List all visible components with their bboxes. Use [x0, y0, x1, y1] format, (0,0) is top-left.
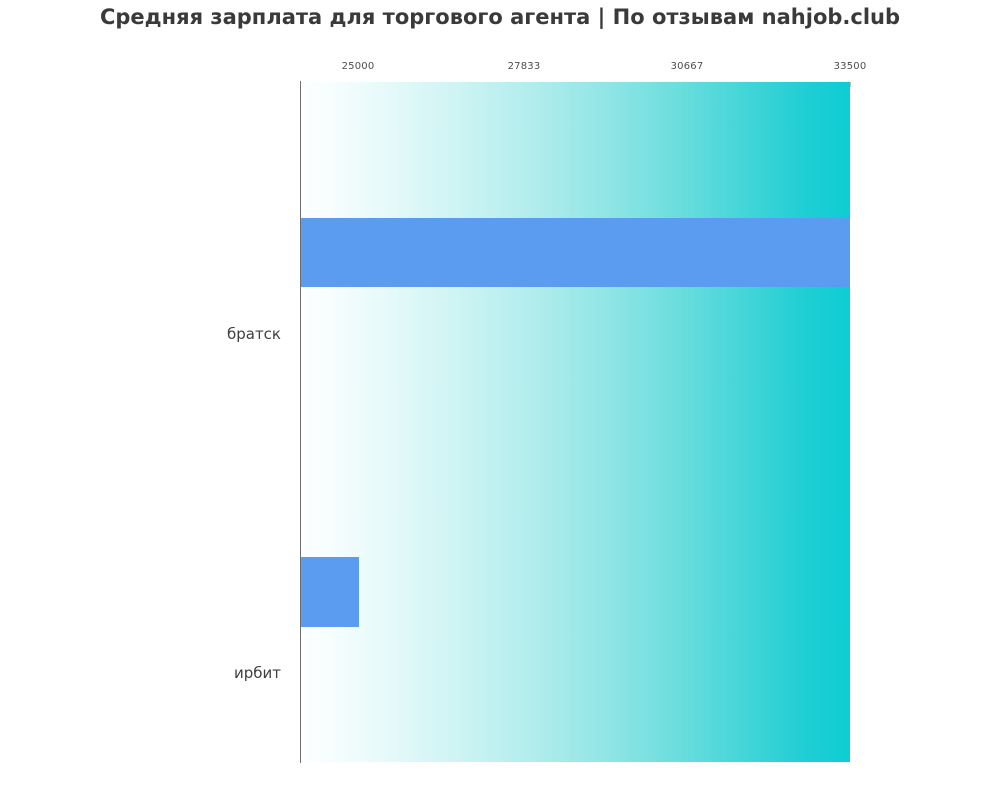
- x-tick-label: 25000: [342, 61, 375, 72]
- y-axis-spine: [300, 81, 301, 763]
- bar-ирбит[interactable]: [301, 557, 359, 627]
- x-tick-label: 33500: [834, 61, 867, 72]
- y-tick-label: братск: [0, 325, 291, 343]
- y-tick-label: ирбит: [0, 664, 291, 682]
- plot-gradient-background: [301, 82, 850, 762]
- page-title: Средняя зарплата для торгового агента | …: [0, 0, 1000, 34]
- plot-area: [301, 82, 850, 762]
- x-tick-label: 27833: [508, 61, 541, 72]
- x-tick-label: 30667: [671, 61, 704, 72]
- bar-братск[interactable]: [301, 218, 850, 287]
